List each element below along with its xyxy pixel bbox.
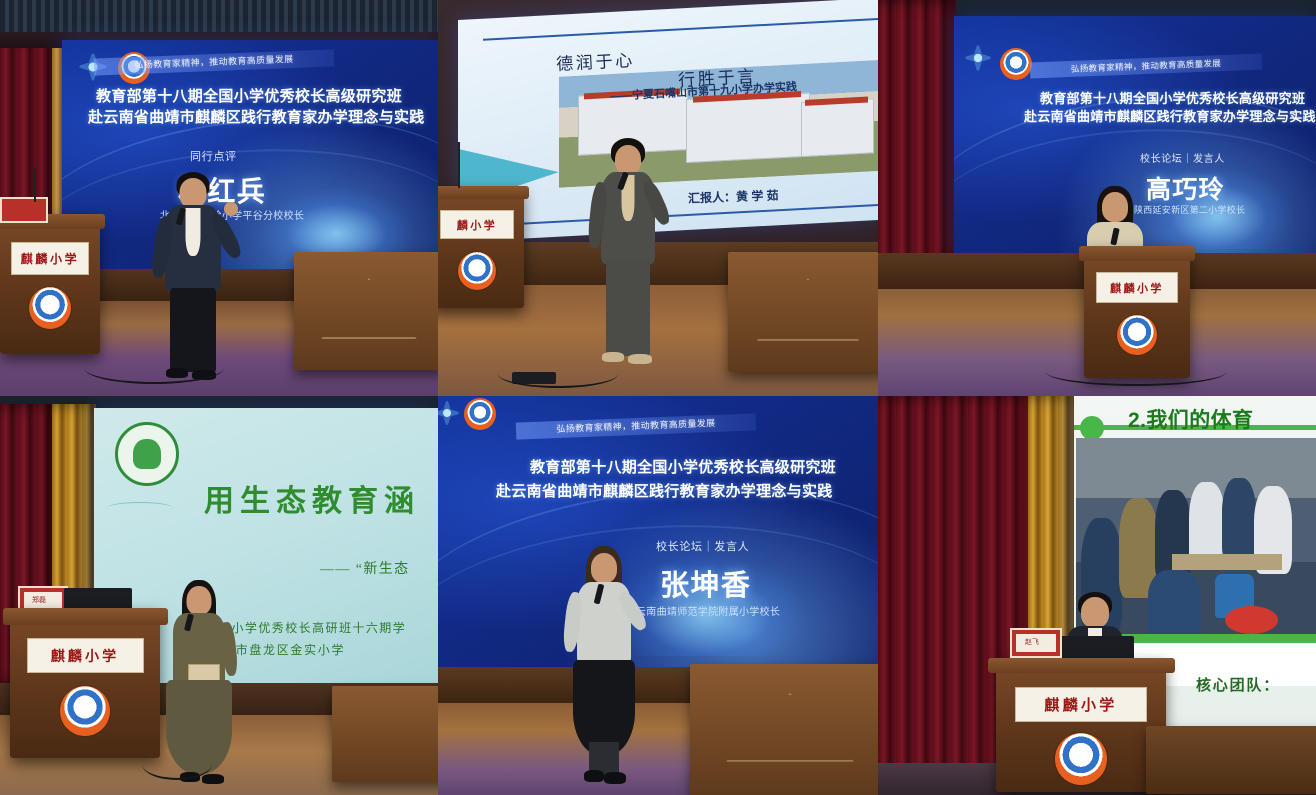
shoe-right bbox=[604, 772, 626, 784]
person-speaker bbox=[588, 138, 668, 376]
podium: 麒麟小学 bbox=[0, 214, 100, 354]
microphone-stand bbox=[458, 142, 460, 188]
seal-logo-icon bbox=[1000, 48, 1032, 80]
shoe-left bbox=[602, 352, 624, 362]
slide-line-1: 国小学优秀校长高研班十六期学 bbox=[218, 619, 406, 636]
slide-quote: —— “新生态 bbox=[320, 558, 410, 578]
person-figure bbox=[1148, 570, 1201, 638]
name-card-text: 郑磊 bbox=[16, 595, 62, 605]
head bbox=[1081, 597, 1109, 628]
podium-sign-text: 麒麟小学 bbox=[1110, 280, 1164, 296]
school-emblem-icon bbox=[1055, 733, 1107, 785]
name-card-box bbox=[0, 197, 48, 223]
event-title-line2: 赴云南省曲靖市麒麟区践行教育家办学理念与实践 bbox=[1024, 106, 1316, 125]
desk-panel-decor bbox=[321, 278, 417, 339]
podium-sign: 麒麟小学 bbox=[11, 242, 89, 275]
podium: 麒麟小学 bbox=[10, 608, 160, 758]
school-logo-icon bbox=[115, 422, 179, 486]
podium-sign-text: 麒麟小学 bbox=[21, 250, 80, 267]
school-emblem-icon bbox=[458, 252, 496, 290]
building-b bbox=[686, 92, 809, 163]
side-desk bbox=[332, 686, 438, 782]
podium-sign: 麒麟小学 bbox=[1096, 272, 1179, 303]
section-label: 同行点评 bbox=[190, 148, 237, 164]
collage-panel-2[interactable]: 德润于心 行胜于言 ——宁夏石嘴山市第十九小学办学实践 汇报人：黄 学 茹 麟小… bbox=[438, 0, 878, 396]
side-desk bbox=[1146, 726, 1316, 794]
collage-panel-5[interactable]: 弘扬教育家精神，推动教育高质量发展 教育部第十八期全国小学优秀校长高级研究班 赴… bbox=[438, 396, 878, 795]
photo-collage: 弘扬教育家精神，推动教育高质量发展 教育部第十八期全国小学优秀校长高级研究班 赴… bbox=[0, 0, 1316, 795]
slide-heading: 2.我们的体育 bbox=[1128, 404, 1253, 434]
slide-footer: 核心团队： bbox=[1196, 674, 1280, 695]
shoe-right bbox=[628, 354, 652, 364]
star-logo-icon bbox=[962, 42, 994, 74]
led-screen bbox=[438, 396, 878, 667]
school-emblem-icon bbox=[60, 686, 110, 736]
school-emblem-icon bbox=[29, 287, 71, 329]
slide-title-left: 德润于心 bbox=[555, 46, 635, 75]
floor-cable bbox=[142, 748, 212, 780]
floor-cable bbox=[84, 352, 224, 384]
slide-line-2: 明市盘龙区金实小学 bbox=[222, 641, 345, 658]
shoe-right bbox=[202, 774, 224, 784]
podium-sign: 麒麟小学 bbox=[1015, 687, 1148, 721]
slide-presenter: 汇报人：黄 学 茹 bbox=[688, 186, 779, 206]
event-title-line1: 教育部第十八期全国小学优秀校长高级研究班 bbox=[530, 456, 836, 477]
speaker-role: 云南曲靖师范学院附属小学校长 bbox=[636, 603, 780, 618]
side-desk bbox=[294, 252, 438, 370]
podium: 麟小学 bbox=[438, 186, 524, 308]
head bbox=[591, 553, 617, 583]
person-figure bbox=[1222, 478, 1256, 562]
section-label: 校长论坛｜发言人 bbox=[656, 538, 749, 554]
podium-sign-text: 麒麟小学 bbox=[1044, 694, 1117, 715]
head bbox=[187, 586, 212, 615]
podium-top bbox=[1079, 246, 1196, 261]
side-desk bbox=[690, 664, 878, 795]
person-speaker bbox=[564, 546, 644, 786]
collage-panel-4[interactable]: 用生态教育涵 —— “新生态 国小学优秀校长高研班十六期学 明市盘龙区金实小学 … bbox=[0, 396, 438, 795]
event-title-line2: 赴云南省曲靖市麒麟区践行教育家办学理念与实践 bbox=[496, 480, 833, 501]
podium-sign: 麒麟小学 bbox=[27, 638, 144, 673]
event-title-line1: 教育部第十八期全国小学优秀校长高级研究班 bbox=[1040, 88, 1305, 107]
podium-top bbox=[438, 186, 529, 199]
seal-logo-icon bbox=[464, 398, 496, 430]
dress-shirt bbox=[186, 208, 201, 256]
collage-panel-6[interactable]: 2.我们的体育 核心团队： 麒麟小学 赵飞 bbox=[878, 396, 1316, 795]
podium-sign-text: 麟小学 bbox=[457, 217, 497, 233]
podium-top bbox=[988, 658, 1175, 673]
building-c bbox=[801, 98, 873, 157]
speaker-name: 高巧玲 bbox=[1146, 170, 1225, 206]
collage-panel-3[interactable]: 弘扬教育家精神，推动教育高质量发展 教育部第十八期全国小学优秀校长高级研究班 赴… bbox=[878, 0, 1316, 396]
head bbox=[180, 178, 207, 208]
podium-top bbox=[3, 608, 168, 625]
name-card-text: 赵飞 bbox=[1008, 637, 1056, 647]
star-logo-icon bbox=[438, 398, 462, 428]
table bbox=[1172, 554, 1282, 570]
podium: 麒麟小学 bbox=[996, 658, 1166, 792]
person-speaker bbox=[150, 172, 236, 382]
event-title-line2: 赴云南省曲靖市麒麟区践行教育家办学理念与实践 bbox=[88, 106, 425, 127]
head bbox=[615, 145, 641, 175]
screen-rule-top bbox=[483, 18, 878, 41]
floor-cable bbox=[498, 360, 618, 388]
hand-right bbox=[224, 202, 238, 216]
microphone-stand bbox=[34, 168, 36, 202]
red-basin bbox=[1225, 606, 1278, 634]
speaker-name: 张坤香 bbox=[660, 562, 751, 604]
podium-sign: 麟小学 bbox=[440, 210, 513, 239]
slide-bullet-dot bbox=[1080, 416, 1104, 440]
desk-panel-decor bbox=[726, 693, 854, 762]
school-emblem-icon bbox=[1117, 315, 1157, 355]
podium-sign-text: 麒麟小学 bbox=[51, 646, 119, 666]
legs-trousers bbox=[606, 260, 650, 356]
shoe-left bbox=[584, 770, 604, 782]
event-title-line1: 教育部第十八期全国小学优秀校长高级研究班 bbox=[96, 85, 402, 106]
desk-panel-decor bbox=[757, 278, 859, 340]
slide-title: 用生态教育涵 bbox=[204, 476, 420, 520]
side-desk bbox=[728, 252, 878, 372]
section-label: 校长论坛｜发言人 bbox=[1140, 150, 1225, 165]
logo-underline bbox=[108, 502, 172, 513]
collage-panel-1[interactable]: 弘扬教育家精神，推动教育高质量发展 教育部第十八期全国小学优秀校长高级研究班 赴… bbox=[0, 0, 438, 396]
head bbox=[1102, 192, 1128, 222]
floor-cable bbox=[1046, 358, 1226, 386]
